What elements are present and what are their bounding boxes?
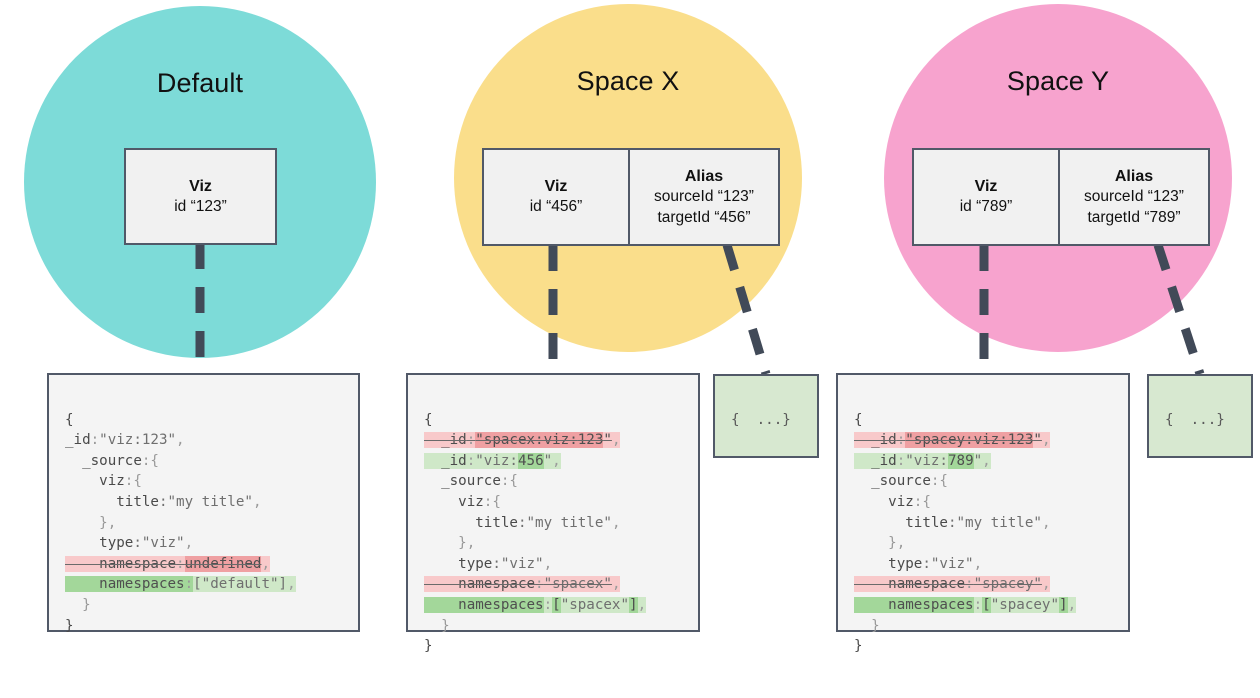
document-default: {_id:"viz:123", _source:{ viz:{ title:"m…	[47, 373, 360, 632]
code-line: title:"my title",	[65, 492, 348, 513]
code-line: }	[782, 412, 791, 428]
code-line: {	[424, 410, 688, 431]
code-line-added: namespaces:["spacey"],	[854, 595, 1118, 616]
entity-title: Alias	[685, 166, 723, 187]
code-line: viz:{	[65, 471, 348, 492]
code-line: type:"viz",	[854, 554, 1118, 575]
code-line: title:"my title",	[854, 513, 1118, 534]
code-line: }	[1216, 412, 1225, 428]
entity-line: sourceId “123”	[1084, 187, 1184, 207]
entity-title: Viz	[189, 176, 212, 197]
code-line: _id:"viz:123",	[65, 430, 348, 451]
code-line-removed: namespace:"spacex",	[424, 574, 688, 595]
code-line: {	[65, 410, 348, 431]
code-line: _source:{	[854, 471, 1118, 492]
document-spacey: { _id:"spacey:viz:123", _id:"viz:789", _…	[836, 373, 1130, 632]
space-label-spacex: Space X	[454, 66, 802, 97]
code-line: title:"my title",	[424, 513, 688, 534]
alias-document-spacex: { ...}	[713, 374, 819, 458]
code-line: type:"viz",	[65, 533, 348, 554]
code-line: ...	[1174, 412, 1217, 428]
entity-row-spacex: Viz id “456” Alias sourceId “123” target…	[482, 148, 780, 246]
code-line-removed: _id:"spacey:viz:123",	[854, 430, 1118, 451]
code-line: }	[424, 616, 688, 637]
entity-alias-spacey[interactable]: Alias sourceId “123” targetId “789”	[1058, 148, 1210, 246]
code-line: _source:{	[424, 471, 688, 492]
space-label-spacey: Space Y	[884, 66, 1232, 97]
entity-row-spacey: Viz id “789” Alias sourceId “123” target…	[912, 148, 1210, 246]
entity-row-default: Viz id “123”	[124, 148, 277, 245]
code-line-removed: namespace:"spacey",	[854, 574, 1118, 595]
entity-line: id “789”	[960, 197, 1013, 217]
alias-document-spacey: { ...}	[1147, 374, 1253, 458]
code-line: }	[65, 595, 348, 616]
space-label-default: Default	[24, 68, 376, 99]
code-line: }	[854, 616, 1118, 637]
code-line: type:"viz",	[424, 554, 688, 575]
code-line: },	[854, 533, 1118, 554]
code-line-added: _id:"viz:789",	[854, 451, 1118, 472]
code-line: viz:{	[424, 492, 688, 513]
entity-line: targetId “456”	[657, 208, 750, 228]
code-line: }	[65, 616, 348, 637]
entity-viz-default[interactable]: Viz id “123”	[124, 148, 277, 245]
code-line-added: namespaces:["spacex"],	[424, 595, 688, 616]
entity-line: id “456”	[530, 197, 583, 217]
code-line: }	[854, 636, 1118, 657]
code-line: {	[731, 412, 740, 428]
code-line-added: namespaces:["default"],	[65, 574, 348, 595]
entity-line: targetId “789”	[1087, 208, 1180, 228]
entity-line: id “123”	[174, 197, 227, 217]
code-line: viz:{	[854, 492, 1118, 513]
code-line: {	[1165, 412, 1174, 428]
document-spacex: { _id:"spacex:viz:123", _id:"viz:456", _…	[406, 373, 700, 632]
entity-title: Alias	[1115, 166, 1153, 187]
code-line: _source:{	[65, 451, 348, 472]
diagram-canvas: Default Space X Space Y Viz id “123” Viz…	[0, 0, 1260, 642]
code-line-removed: _id:"spacex:viz:123",	[424, 430, 688, 451]
code-line: ...	[740, 412, 783, 428]
code-line: {	[854, 410, 1118, 431]
code-line: },	[65, 513, 348, 534]
entity-viz-spacey[interactable]: Viz id “789”	[912, 148, 1060, 246]
code-line-added: _id:"viz:456",	[424, 451, 688, 472]
entity-line: sourceId “123”	[654, 187, 754, 207]
entity-title: Viz	[545, 176, 568, 197]
code-line: }	[424, 636, 688, 657]
entity-viz-spacex[interactable]: Viz id “456”	[482, 148, 630, 246]
code-line: },	[424, 533, 688, 554]
entity-title: Viz	[975, 176, 998, 197]
code-line-removed: namespace:undefined,	[65, 554, 348, 575]
entity-alias-spacex[interactable]: Alias sourceId “123” targetId “456”	[628, 148, 780, 246]
